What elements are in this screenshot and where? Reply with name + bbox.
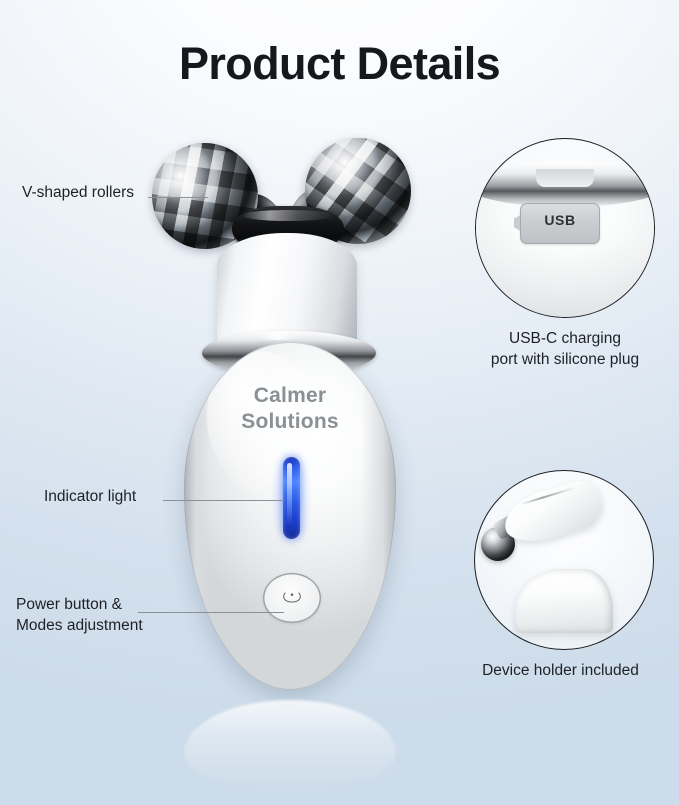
power-icon <box>281 590 303 606</box>
device-reflection <box>184 700 396 792</box>
holder-inset-device-body <box>498 475 608 550</box>
device-holder-inset <box>474 470 654 650</box>
leader-line-indicator <box>163 500 284 501</box>
brand-logo-text: Calmer Solutions <box>184 383 396 434</box>
callout-indicator-light: Indicator light <box>44 487 136 508</box>
callout-v-shaped-rollers: V-shaped rollers <box>22 183 134 204</box>
usb-port-inset: USB <box>475 138 655 318</box>
usb-port-label: USB <box>520 212 600 228</box>
caption-device-holder: Device holder included <box>438 661 679 682</box>
roller-band-highlight <box>242 210 334 221</box>
leader-line-power <box>138 612 284 613</box>
indicator-light-highlight <box>287 463 292 525</box>
device-holder-stand-edge <box>515 569 613 633</box>
main-device-illustration: Calmer Solutions <box>150 135 420 695</box>
leader-line-rollers <box>148 197 208 198</box>
product-details-infographic: Product Details Calmer Solutions V-shape… <box>0 0 679 805</box>
usb-inset-notch <box>536 169 594 187</box>
page-title: Product Details <box>0 38 679 90</box>
callout-power-button: Power button & Modes adjustment <box>16 595 143 637</box>
caption-usb-port: USB-C charging port with silicone plug <box>465 329 665 371</box>
chrome-trim-highlight <box>254 332 306 340</box>
